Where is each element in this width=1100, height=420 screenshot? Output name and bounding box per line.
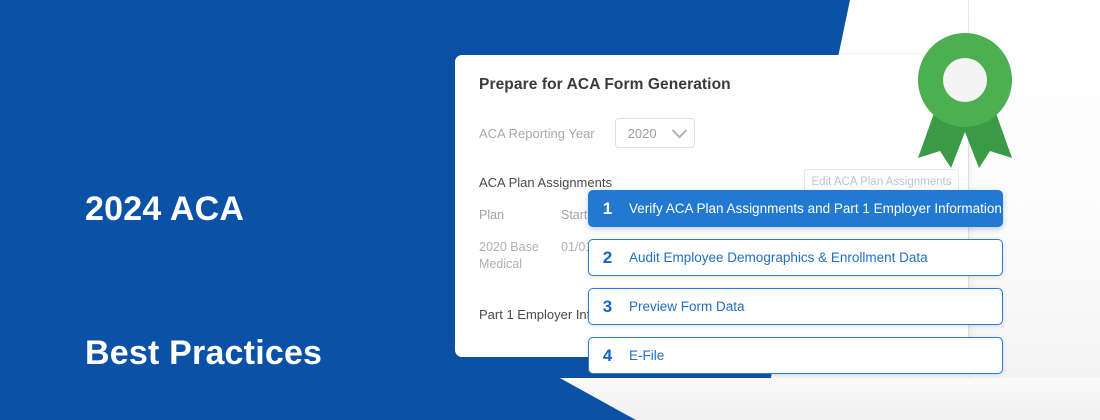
plan-assignments-label: ACA Plan Assignments [479,175,612,190]
reporting-year-label: ACA Reporting Year [479,126,595,141]
chevron-down-icon [671,122,687,138]
award-ribbon-icon [910,32,1020,170]
step-number: 4 [589,346,626,366]
reporting-year-select[interactable]: 2020 [615,118,695,148]
reporting-year-field: ACA Reporting Year 2020 [479,118,695,148]
column-header-plan: Plan [479,208,561,222]
step-label: E-File [626,348,664,363]
hero-headline-line-2: Best Practices [85,329,322,377]
best-practice-steps: 1 Verify ACA Plan Assignments and Part 1… [588,190,1003,386]
step-label: Preview Form Data [626,299,745,314]
promo-banner: 2024 ACA Best Practices Prepare for ACA … [0,0,1100,420]
step-number: 3 [589,297,626,317]
step-item-2[interactable]: 2 Audit Employee Demographics & Enrollme… [588,239,1003,276]
step-label: Audit Employee Demographics & Enrollment… [626,250,928,265]
step-label: Verify ACA Plan Assignments and Part 1 E… [626,201,1002,216]
step-item-1[interactable]: 1 Verify ACA Plan Assignments and Part 1… [588,190,1003,227]
step-number: 2 [589,248,626,268]
hero-headline-line-1: 2024 ACA [85,185,322,233]
step-number: 1 [589,199,626,219]
hero-headline: 2024 ACA Best Practices [85,88,322,420]
step-item-4[interactable]: 4 E-File [588,337,1003,374]
step-item-3[interactable]: 3 Preview Form Data [588,288,1003,325]
card-title: Prepare for ACA Form Generation [479,76,731,94]
cell-plan: 2020 Base Medical [479,239,561,273]
reporting-year-value: 2020 [628,126,657,141]
